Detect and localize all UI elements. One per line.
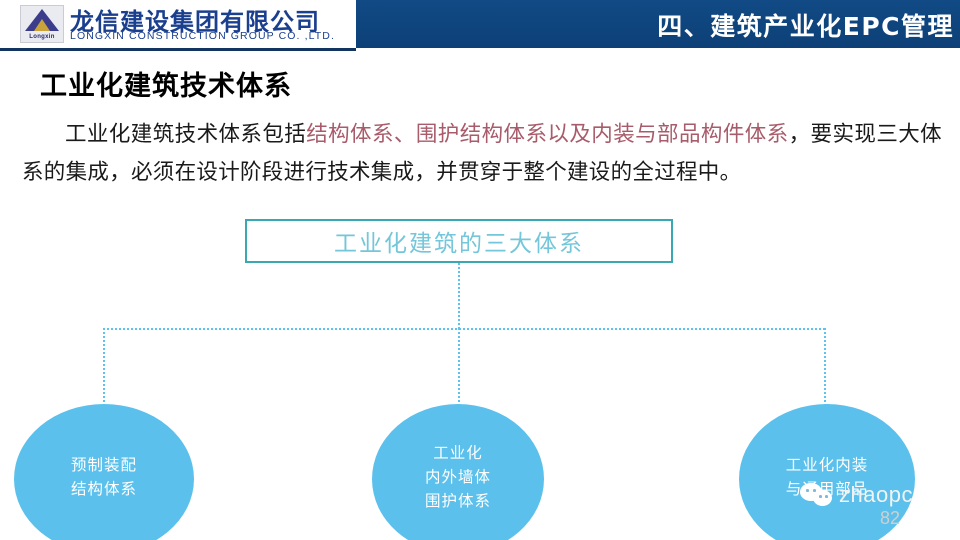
diagram-node-envelope-system: 工业化 内外墙体 围护体系 <box>372 404 544 540</box>
header-divider <box>0 48 356 51</box>
page-number: 82 <box>880 508 900 529</box>
header-band: 四、建筑产业化EPC管理 <box>356 0 960 48</box>
diagram-root-label: 工业化建筑的三大体系 <box>247 221 671 261</box>
slide-canvas: Longxin 龙信建设集团有限公司 LONGXIN CONSTRUCTION … <box>0 0 960 540</box>
connector-to-node-3 <box>824 328 826 414</box>
body-lead: 工业化建筑技术体系包括 <box>65 122 306 147</box>
company-name-en: LONGXIN CONSTRUCTION GROUP CO. ,LTD. <box>70 30 335 42</box>
wechat-account-name: zhaopc <box>839 482 913 508</box>
body-paragraph: 工业化建筑技术体系包括结构体系、围护结构体系以及内装与部品构件体系，要实现三大体… <box>22 116 942 192</box>
wechat-watermark: zhaopc <box>800 482 913 508</box>
connector-horizontal-bus <box>103 328 825 330</box>
connector-to-node-2 <box>458 328 460 414</box>
logo-mark-label: Longxin <box>21 34 63 40</box>
section-title: 四、建筑产业化EPC管理 <box>657 7 954 43</box>
page-title: 工业化建筑技术体系 <box>40 64 292 103</box>
diagram-node-label: 预制装配 结构体系 <box>71 453 137 501</box>
diagram-node-label: 工业化 内外墙体 围护体系 <box>425 441 491 513</box>
diagram-node-structure-system: 预制装配 结构体系 <box>14 404 194 540</box>
connector-to-node-1 <box>103 328 105 414</box>
slide-header: Longxin 龙信建设集团有限公司 LONGXIN CONSTRUCTION … <box>0 0 960 48</box>
wechat-icon <box>800 482 834 508</box>
body-highlight: 结构体系、围护结构体系以及内装与部品构件体系 <box>306 122 788 147</box>
diagram-root-box: 工业化建筑的三大体系 <box>245 219 673 263</box>
connector-root-stem <box>458 263 460 329</box>
triangle-icon <box>25 9 59 31</box>
company-logo-area: Longxin 龙信建设集团有限公司 LONGXIN CONSTRUCTION … <box>0 0 356 48</box>
company-logo-mark: Longxin <box>20 5 64 43</box>
